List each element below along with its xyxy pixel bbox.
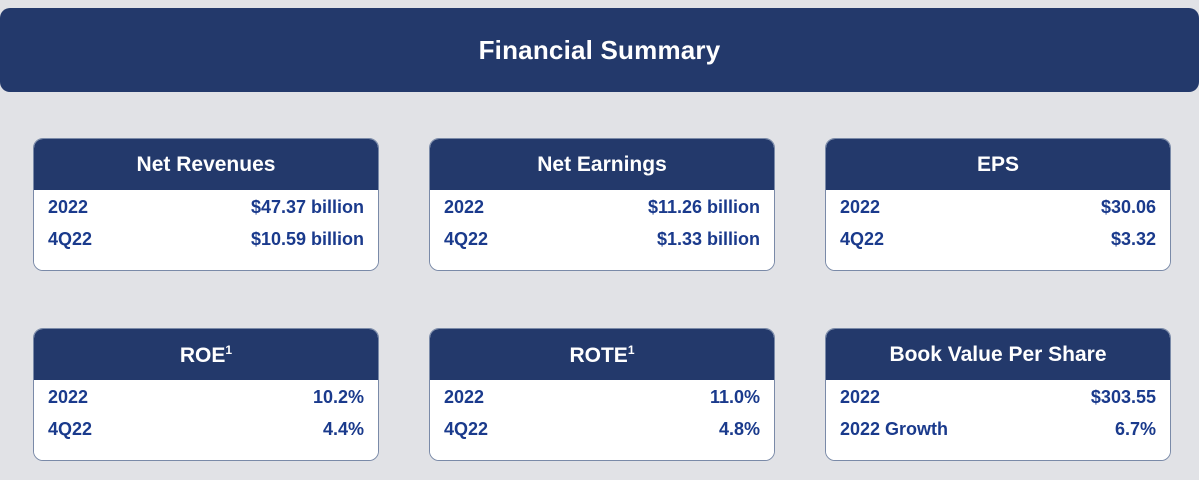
page-title: Financial Summary: [479, 35, 721, 66]
card-header: Book Value Per Share: [826, 329, 1170, 380]
card-body: 2022 $47.37 billion 4Q22 $10.59 billion: [34, 190, 378, 270]
card-header: Net Revenues: [34, 139, 378, 190]
metric-value: $30.06: [1101, 197, 1156, 218]
metric-card-net-revenues: Net Revenues 2022 $47.37 billion 4Q22 $1…: [33, 138, 379, 271]
card-header: Net Earnings: [430, 139, 774, 190]
metric-row: 2022 $47.37 billion: [48, 197, 364, 229]
metric-row: 4Q22 4.8%: [444, 419, 760, 451]
metric-label: 2022: [48, 387, 88, 408]
card-title-text: Book Value Per Share: [889, 343, 1106, 366]
card-title: ROE1: [180, 344, 232, 366]
metric-value: $303.55: [1091, 387, 1156, 408]
metric-row: 2022 11.0%: [444, 387, 760, 419]
metric-row: 4Q22 $1.33 billion: [444, 229, 760, 261]
metric-label: 2022: [444, 197, 484, 218]
metric-value: $47.37 billion: [251, 197, 364, 218]
metric-label: 4Q22: [48, 229, 92, 250]
metric-row: 2022 $11.26 billion: [444, 197, 760, 229]
card-title-text: Net Revenues: [137, 153, 276, 176]
card-header: ROE1: [34, 329, 378, 380]
card-title-text: ROTE: [569, 344, 627, 367]
metric-row: 2022 10.2%: [48, 387, 364, 419]
metric-label: 2022: [840, 387, 880, 408]
metric-label: 2022: [48, 197, 88, 218]
card-body: 2022 11.0% 4Q22 4.8%: [430, 380, 774, 460]
card-title-text: Net Earnings: [537, 153, 667, 176]
metric-row: 2022 $303.55: [840, 387, 1156, 419]
metric-row: 4Q22 $3.32: [840, 229, 1156, 261]
card-header: EPS: [826, 139, 1170, 190]
metric-value: 6.7%: [1115, 419, 1156, 440]
metric-value: $1.33 billion: [657, 229, 760, 250]
metric-label: 4Q22: [444, 229, 488, 250]
metric-card-net-earnings: Net Earnings 2022 $11.26 billion 4Q22 $1…: [429, 138, 775, 271]
metric-row: 4Q22 4.4%: [48, 419, 364, 451]
metric-row: 4Q22 $10.59 billion: [48, 229, 364, 261]
metric-value: 11.0%: [710, 387, 760, 408]
metric-value: 4.8%: [719, 419, 760, 440]
metric-label: 4Q22: [48, 419, 92, 440]
card-body: 2022 $11.26 billion 4Q22 $1.33 billion: [430, 190, 774, 270]
footnote-marker: 1: [225, 343, 232, 357]
metric-card-rote: ROTE1 2022 11.0% 4Q22 4.8%: [429, 328, 775, 461]
metric-card-grid: Net Revenues 2022 $47.37 billion 4Q22 $1…: [33, 138, 1172, 461]
metric-value: 4.4%: [323, 419, 364, 440]
card-header: ROTE1: [430, 329, 774, 380]
metric-label: 2022: [444, 387, 484, 408]
metric-row: 2022 $30.06: [840, 197, 1156, 229]
card-title: Net Earnings: [537, 154, 667, 175]
metric-value: $11.26 billion: [648, 197, 760, 218]
card-body: 2022 $303.55 2022 Growth 6.7%: [826, 380, 1170, 460]
metric-label: 4Q22: [840, 229, 884, 250]
card-title: Net Revenues: [137, 154, 276, 175]
footnote-marker: 1: [628, 343, 635, 357]
card-title: ROTE1: [569, 344, 634, 366]
card-title: EPS: [977, 154, 1019, 175]
metric-label: 4Q22: [444, 419, 488, 440]
card-title-text: EPS: [977, 153, 1019, 176]
metric-card-roe: ROE1 2022 10.2% 4Q22 4.4%: [33, 328, 379, 461]
metric-value: 10.2%: [313, 387, 364, 408]
metric-label: 2022: [840, 197, 880, 218]
metric-value: $3.32: [1111, 229, 1156, 250]
card-title: Book Value Per Share: [889, 344, 1106, 365]
card-body: 2022 10.2% 4Q22 4.4%: [34, 380, 378, 460]
metric-label: 2022 Growth: [840, 419, 948, 440]
metric-value: $10.59 billion: [251, 229, 364, 250]
metric-row: 2022 Growth 6.7%: [840, 419, 1156, 451]
card-body: 2022 $30.06 4Q22 $3.32: [826, 190, 1170, 270]
financial-summary-page: Financial Summary Net Revenues 2022 $47.…: [0, 0, 1199, 480]
page-title-banner: Financial Summary: [0, 8, 1199, 92]
metric-card-eps: EPS 2022 $30.06 4Q22 $3.32: [825, 138, 1171, 271]
card-title-text: ROE: [180, 344, 226, 367]
metric-card-book-value-per-share: Book Value Per Share 2022 $303.55 2022 G…: [825, 328, 1171, 461]
